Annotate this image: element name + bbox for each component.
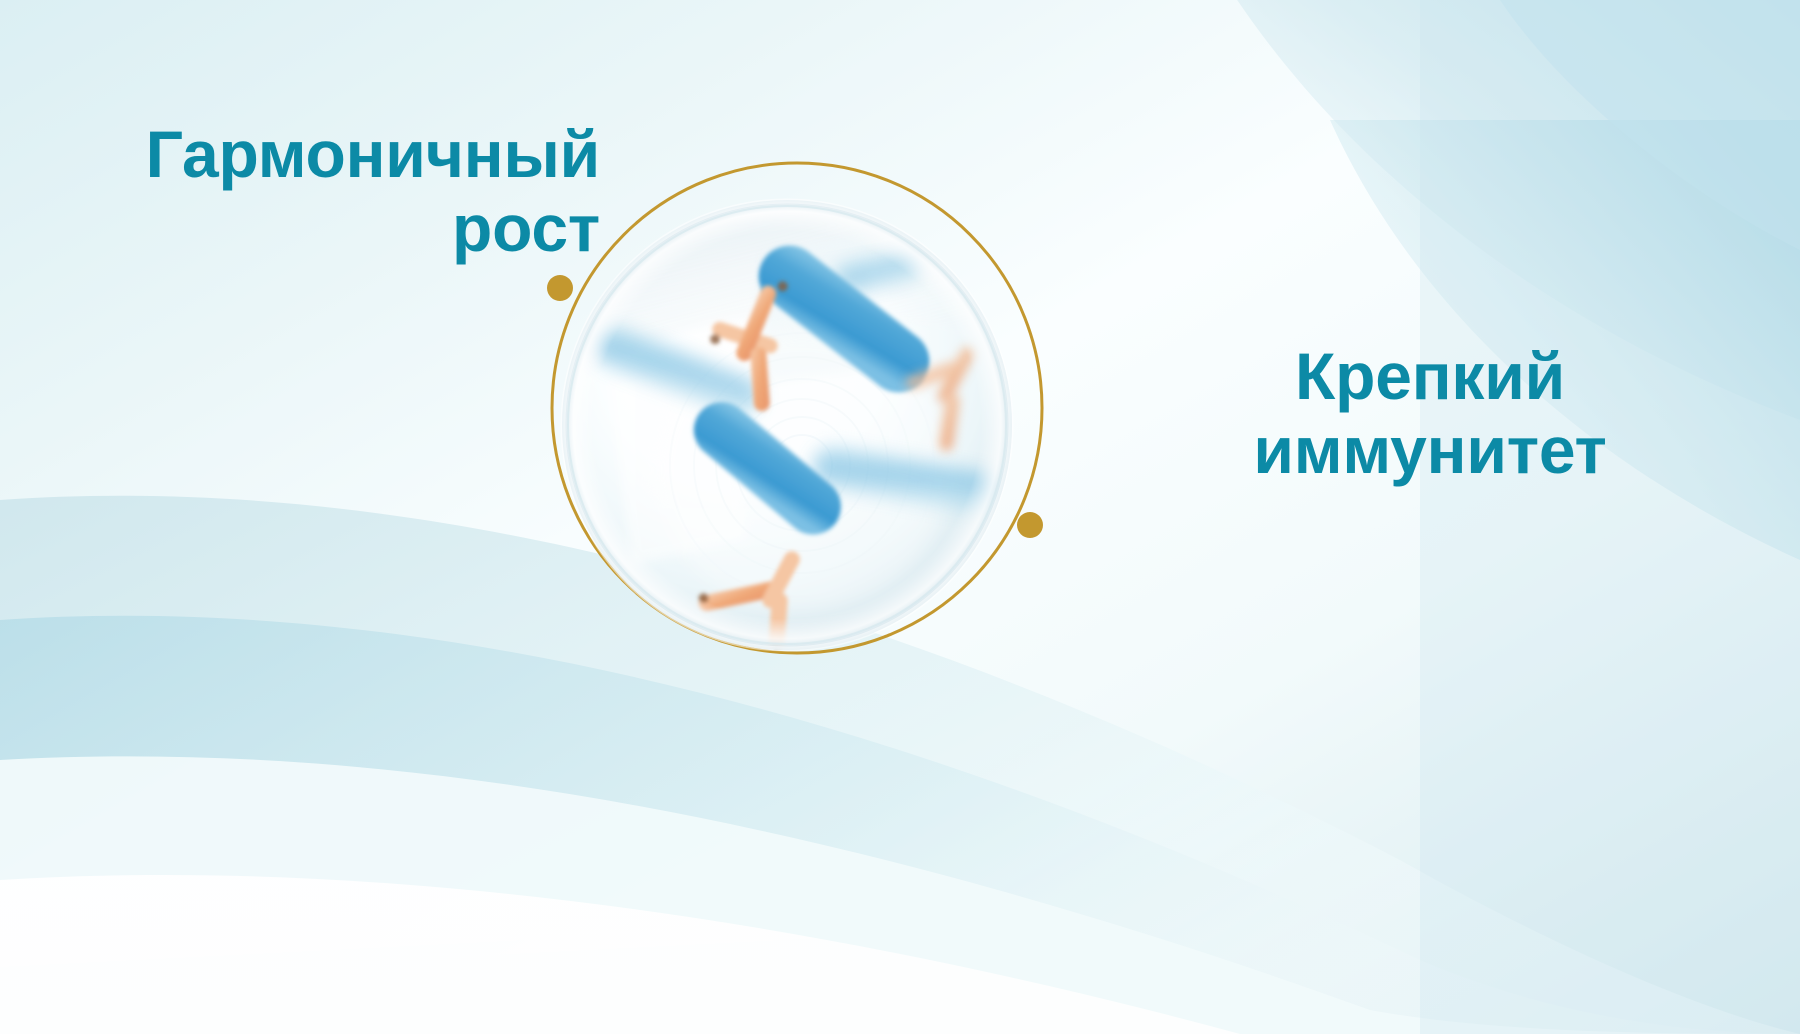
probiotic-bubble-illustration (512, 140, 1072, 700)
ring-dot-lower-right-icon (1017, 512, 1043, 538)
wave-bottom-4 (0, 875, 1240, 1034)
right-glow (1420, 0, 1800, 1034)
headline-right: Крепкий иммунитет (1080, 340, 1780, 488)
bubble-svg (512, 140, 1072, 700)
slide-canvas: Гармоничный рост Крепкий иммунитет (0, 0, 1800, 1034)
wave-bottom-3 (0, 756, 1800, 1034)
wave-top-right-3 (1500, 0, 1800, 250)
ring-dot-upper-left-icon (547, 275, 573, 301)
